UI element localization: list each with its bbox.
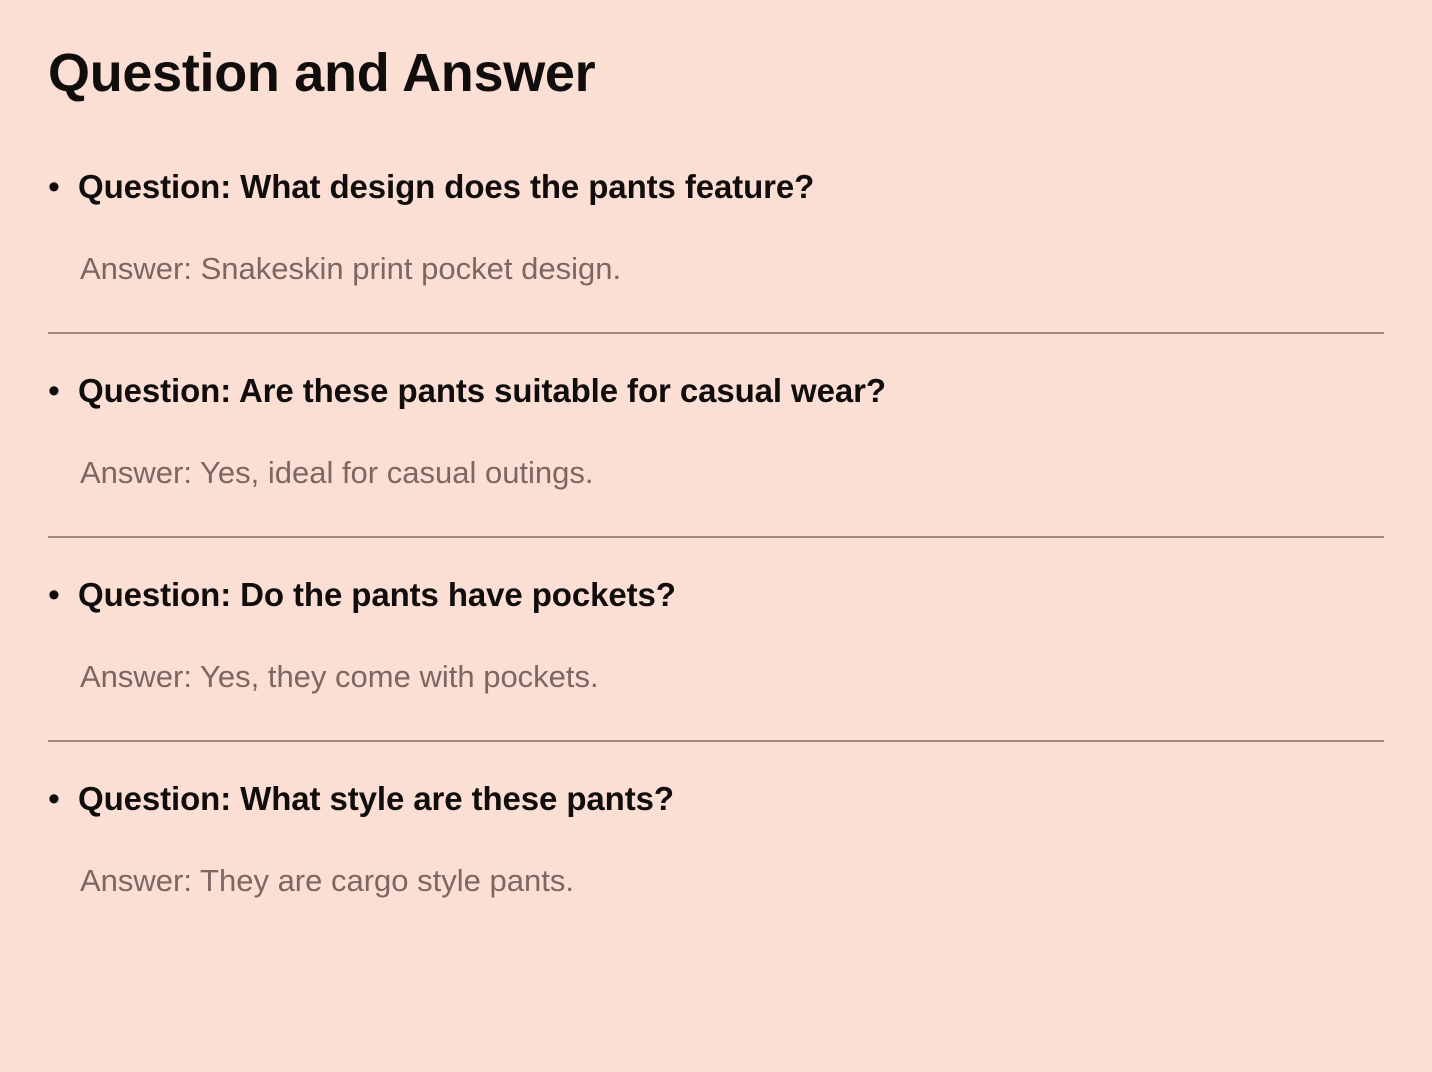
question-row: • Question: Are these pants suitable for… xyxy=(48,334,1384,412)
list-item: • Question: Do the pants have pockets? A… xyxy=(48,536,1384,740)
question-row: • Question: What style are these pants? xyxy=(48,742,1384,820)
page-title: Question and Answer xyxy=(48,0,1384,102)
qa-document-page: Question and Answer • Question: What des… xyxy=(0,0,1432,1072)
question-text: Question: What design does the pants fea… xyxy=(78,166,814,208)
answer-text: Answer: They are cargo style pants. xyxy=(48,820,1384,944)
bullet-icon: • xyxy=(48,166,78,208)
answer-text: Answer: Snakeskin print pocket design. xyxy=(48,208,1384,332)
list-item: • Question: What style are these pants? … xyxy=(48,740,1384,944)
question-text: Question: What style are these pants? xyxy=(78,778,674,820)
list-item: • Question: What design does the pants f… xyxy=(48,102,1384,332)
answer-text: Answer: Yes, they come with pockets. xyxy=(48,616,1384,740)
answer-text: Answer: Yes, ideal for casual outings. xyxy=(48,412,1384,536)
question-row: • Question: What design does the pants f… xyxy=(48,102,1384,208)
bullet-icon: • xyxy=(48,370,78,412)
question-text: Question: Do the pants have pockets? xyxy=(78,574,676,616)
question-text: Question: Are these pants suitable for c… xyxy=(78,370,886,412)
question-row: • Question: Do the pants have pockets? xyxy=(48,538,1384,616)
qa-list: • Question: What design does the pants f… xyxy=(48,102,1384,944)
bullet-icon: • xyxy=(48,574,78,616)
bullet-icon: • xyxy=(48,778,78,820)
list-item: • Question: Are these pants suitable for… xyxy=(48,332,1384,536)
